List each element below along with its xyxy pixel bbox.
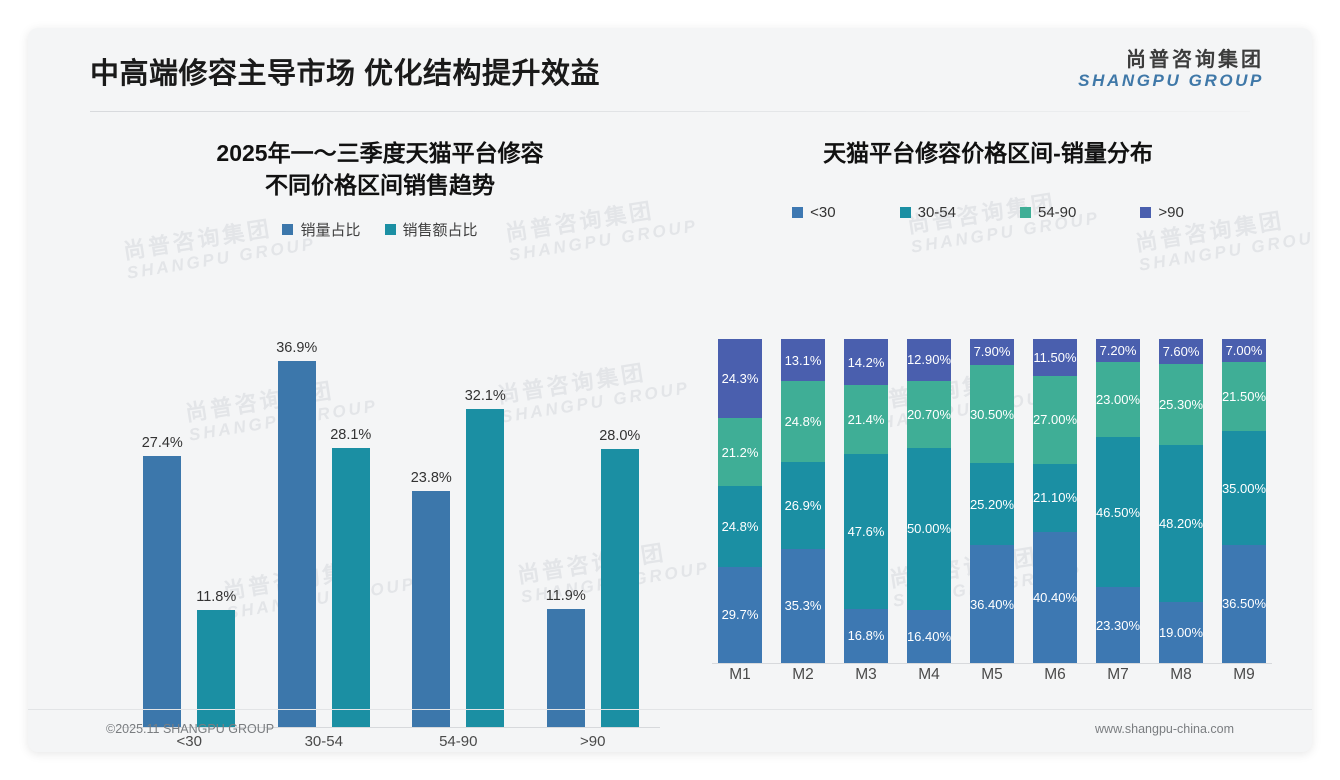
bar-value-label: 28.0% (599, 428, 640, 444)
segment-value-label: 14.2% (848, 355, 885, 370)
legend-item-sales-amount[interactable]: 销售额占比 (385, 219, 478, 240)
stack-segment[interactable]: 30.50% (970, 365, 1014, 464)
segment-value-label: 35.00% (1222, 481, 1266, 496)
legend-swatch-icon (1140, 207, 1151, 218)
footer-copyright: ©2025.11 SHANGPU GROUP (106, 722, 274, 736)
bar-column[interactable]: 11.8% (197, 317, 235, 727)
segment-value-label: 35.3% (785, 598, 822, 613)
stack-segment[interactable]: 35.3% (781, 549, 825, 663)
segment-value-label: 23.00% (1096, 392, 1140, 407)
left-chart-title-line2: 不同价格区间销售趋势 (84, 170, 676, 202)
stack-segment[interactable]: 27.00% (1033, 376, 1077, 463)
stack-segment[interactable]: 23.30% (1096, 587, 1140, 662)
legend-swatch-icon (282, 224, 293, 235)
stacked-column[interactable]: 7.00%21.50%35.00%36.50% (1216, 333, 1272, 663)
stack-segment[interactable]: 50.00% (907, 448, 951, 610)
bar-volume[interactable] (278, 361, 316, 727)
footer-website[interactable]: www.shangpu-china.com (1095, 722, 1234, 736)
stack: 11.50%27.00%21.10%40.40% (1033, 339, 1077, 663)
bar-column[interactable]: 23.8% (412, 317, 450, 727)
page-title: 中高端修容主导市场 优化结构提升效益 (90, 50, 600, 92)
stacked-column[interactable]: 14.2%21.4%47.6%16.8% (838, 333, 894, 663)
legend-item-under-30[interactable]: <30 (792, 204, 835, 221)
bar-column[interactable]: 32.1% (466, 317, 504, 727)
bar-column[interactable]: 36.9% (278, 317, 316, 727)
segment-value-label: 24.8% (785, 414, 822, 429)
bar-volume[interactable] (143, 456, 181, 727)
segment-value-label: 25.20% (970, 497, 1014, 512)
stack-segment[interactable]: 16.40% (907, 610, 951, 663)
segment-value-label: 20.70% (907, 407, 951, 422)
legend-label: 销量占比 (300, 219, 360, 240)
x-tick: M7 (1090, 666, 1146, 706)
stack-segment[interactable]: 23.00% (1096, 362, 1140, 437)
stacked-column[interactable]: 11.50%27.00%21.10%40.40% (1027, 333, 1083, 663)
segment-value-label: 29.7% (722, 607, 759, 622)
stack-segment[interactable]: 20.70% (907, 381, 951, 448)
stack-segment[interactable]: 48.20% (1159, 445, 1203, 601)
left-chart-legend: 销量占比 销售额占比 (84, 219, 676, 240)
segment-value-label: 16.40% (907, 629, 951, 644)
stack-segment[interactable]: 24.8% (781, 381, 825, 461)
right-chart-bars: 24.3%21.2%24.8%29.7%13.1%24.8%26.9%35.3%… (712, 334, 1272, 664)
bar-value-label: 36.9% (276, 340, 317, 356)
stack: 24.3%21.2%24.8%29.7% (718, 339, 762, 663)
stack-segment[interactable]: 36.50% (1222, 545, 1266, 663)
left-chart-bars: 27.4% 11.8% 36.9% 28.1% (122, 318, 660, 728)
stacked-column[interactable]: 7.20%23.00%46.50%23.30% (1090, 333, 1146, 663)
stack: 13.1%24.8%26.9%35.3% (781, 339, 825, 663)
bar-amount[interactable] (601, 449, 639, 727)
bar-value-label: 11.8% (196, 589, 236, 605)
segment-value-label: 16.8% (848, 628, 885, 643)
logo-chinese-text: 尚普咨询集团 (1078, 50, 1264, 72)
stacked-column[interactable]: 24.3%21.2%24.8%29.7% (712, 333, 768, 663)
bar-amount[interactable] (466, 409, 504, 727)
right-chart-title: 天猫平台修容价格区间-销量分布 (688, 138, 1288, 170)
stack-segment[interactable]: 36.40% (970, 545, 1014, 663)
right-chart-legend: <30 30-54 54-90 >90 (688, 204, 1288, 221)
stack-segment[interactable]: 46.50% (1096, 437, 1140, 588)
bar-value-label: 28.1% (330, 427, 371, 443)
x-tick: M8 (1153, 666, 1209, 706)
segment-value-label: 21.50% (1222, 389, 1266, 404)
x-tick: M2 (775, 666, 831, 706)
stack-segment[interactable]: 25.20% (970, 463, 1014, 545)
x-tick: M5 (964, 666, 1020, 706)
left-chart-title-line1: 2025年一～三季度天猫平台修容 (84, 138, 676, 170)
stack-segment[interactable]: 14.2% (844, 339, 888, 385)
segment-value-label: 30.50% (970, 407, 1014, 422)
segment-value-label: 23.30% (1096, 618, 1140, 633)
segment-value-label: 12.90% (907, 352, 951, 367)
x-tick: M9 (1216, 666, 1272, 706)
stack-segment[interactable]: 24.8% (718, 486, 762, 566)
stack-segment[interactable]: 21.10% (1033, 464, 1077, 532)
stack-segment[interactable]: 29.7% (718, 567, 762, 663)
x-tick: M6 (1027, 666, 1083, 706)
x-tick: M3 (838, 666, 894, 706)
right-chart-plot-area: 24.3%21.2%24.8%29.7%13.1%24.8%26.9%35.3%… (712, 334, 1272, 752)
segment-value-label: 7.90% (974, 344, 1011, 359)
legend-swatch-icon (385, 224, 396, 235)
stack-segment[interactable]: 7.60% (1159, 339, 1203, 364)
stacked-column[interactable]: 13.1%24.8%26.9%35.3% (775, 333, 831, 663)
slide-container: 中高端修容主导市场 优化结构提升效益 尚普咨询集团 SHANGPU GROUP … (28, 28, 1312, 752)
legend-label: 30-54 (918, 204, 956, 221)
stack-segment[interactable]: 26.9% (781, 462, 825, 549)
segment-value-label: 7.00% (1226, 343, 1263, 358)
segment-value-label: 13.1% (785, 353, 822, 368)
legend-item-sales-volume[interactable]: 销量占比 (282, 219, 360, 240)
right-chart-panel: 天猫平台修容价格区间-销量分布 <30 30-54 54-90 >90 24.3… (688, 138, 1288, 718)
legend-label: 54-90 (1038, 204, 1076, 221)
segment-value-label: 50.00% (907, 521, 951, 536)
legend-label: <30 (810, 204, 835, 221)
legend-swatch-icon (792, 207, 803, 218)
bar-column[interactable]: 27.4% (143, 317, 181, 727)
segment-value-label: 46.50% (1096, 505, 1140, 520)
x-tick: M4 (901, 666, 957, 706)
stack: 14.2%21.4%47.6%16.8% (844, 339, 888, 663)
segment-value-label: 21.4% (848, 412, 885, 427)
logo-english-text: SHANGPU GROUP (1078, 72, 1264, 90)
stack: 7.60%25.30%48.20%19.00% (1159, 339, 1203, 663)
bar-column[interactable]: 28.1% (332, 317, 370, 727)
stack-segment[interactable]: 11.50% (1033, 339, 1077, 376)
bar-amount[interactable] (332, 448, 370, 727)
segment-value-label: 25.30% (1159, 397, 1203, 412)
segment-value-label: 36.40% (970, 597, 1014, 612)
stack-segment[interactable]: 21.2% (718, 418, 762, 487)
segment-value-label: 7.60% (1163, 344, 1200, 359)
segment-value-label: 7.20% (1100, 343, 1137, 358)
bar-group: 11.9% 28.0% (537, 317, 649, 727)
brand-logo: 尚普咨询集团 SHANGPU GROUP (1078, 50, 1264, 90)
segment-value-label: 19.00% (1159, 625, 1203, 640)
bar-column[interactable]: 11.9% (547, 317, 585, 727)
stack-segment[interactable]: 47.6% (844, 454, 888, 608)
right-chart-x-axis: M1M2M3M4M5M6M7M8M9 (712, 666, 1272, 706)
segment-value-label: 24.3% (722, 371, 759, 386)
slide-footer: ©2025.11 SHANGPU GROUP www.shangpu-china… (28, 710, 1312, 752)
segment-value-label: 21.10% (1033, 490, 1077, 505)
stack-segment[interactable]: 24.3% (718, 339, 762, 418)
bar-value-label: 32.1% (465, 388, 506, 404)
segment-value-label: 27.00% (1033, 412, 1077, 427)
stack-segment[interactable]: 19.00% (1159, 602, 1203, 664)
legend-swatch-icon (1020, 207, 1031, 218)
segment-value-label: 40.40% (1033, 590, 1077, 605)
stack-segment[interactable]: 7.20% (1096, 339, 1140, 362)
stack: 7.00%21.50%35.00%36.50% (1222, 339, 1266, 663)
bar-group: 27.4% 11.8% (133, 317, 245, 727)
stack-segment[interactable]: 35.00% (1222, 431, 1266, 544)
bar-value-label: 27.4% (142, 435, 183, 451)
segment-value-label: 21.2% (722, 445, 759, 460)
left-chart-title: 2025年一～三季度天猫平台修容 不同价格区间销售趋势 (84, 138, 676, 201)
stack-segment[interactable]: 16.8% (844, 609, 888, 663)
stack-segment[interactable]: 25.30% (1159, 364, 1203, 446)
legend-swatch-icon (900, 207, 911, 218)
stacked-column[interactable]: 7.60%25.30%48.20%19.00% (1153, 333, 1209, 663)
legend-item-30-54[interactable]: 30-54 (900, 204, 956, 221)
left-chart-plot-area: 27.4% 11.8% 36.9% 28.1% (100, 318, 660, 752)
segment-value-label: 11.50% (1033, 350, 1076, 365)
stack-segment[interactable]: 40.40% (1033, 532, 1077, 663)
segment-value-label: 47.6% (848, 524, 885, 539)
bar-column[interactable]: 28.0% (601, 317, 639, 727)
stack-segment[interactable]: 21.4% (844, 385, 888, 454)
segment-value-label: 26.9% (785, 498, 822, 513)
legend-item-over-90[interactable]: >90 (1140, 204, 1183, 221)
segment-value-label: 36.50% (1222, 596, 1266, 611)
bar-volume[interactable] (412, 491, 450, 727)
bar-group: 23.8% 32.1% (402, 317, 514, 727)
stacked-column[interactable]: 7.90%30.50%25.20%36.40% (964, 333, 1020, 663)
stack-segment[interactable]: 21.50% (1222, 362, 1266, 432)
stack: 12.90%20.70%50.00%16.40% (907, 339, 951, 663)
left-chart-panel: 2025年一～三季度天猫平台修容 不同价格区间销售趋势 销量占比 销售额占比 2… (84, 138, 676, 718)
stack-segment[interactable]: 12.90% (907, 339, 951, 381)
header-divider (90, 111, 1250, 112)
slide-header: 中高端修容主导市场 优化结构提升效益 尚普咨询集团 SHANGPU GROUP (28, 28, 1312, 112)
stack-segment[interactable]: 7.90% (970, 339, 1014, 365)
segment-value-label: 48.20% (1159, 516, 1203, 531)
stack: 7.90%30.50%25.20%36.40% (970, 339, 1014, 663)
x-tick: M1 (712, 666, 768, 706)
segment-value-label: 24.8% (722, 519, 759, 534)
legend-item-54-90[interactable]: 54-90 (1020, 204, 1076, 221)
bar-group: 36.9% 28.1% (268, 317, 380, 727)
stack: 7.20%23.00%46.50%23.30% (1096, 339, 1140, 663)
stack-segment[interactable]: 7.00% (1222, 339, 1266, 362)
legend-label: 销售额占比 (403, 219, 478, 240)
stack-segment[interactable]: 13.1% (781, 339, 825, 381)
bar-value-label: 11.9% (546, 588, 586, 604)
bar-value-label: 23.8% (411, 470, 452, 486)
legend-label: >90 (1158, 204, 1183, 221)
stacked-column[interactable]: 12.90%20.70%50.00%16.40% (901, 333, 957, 663)
